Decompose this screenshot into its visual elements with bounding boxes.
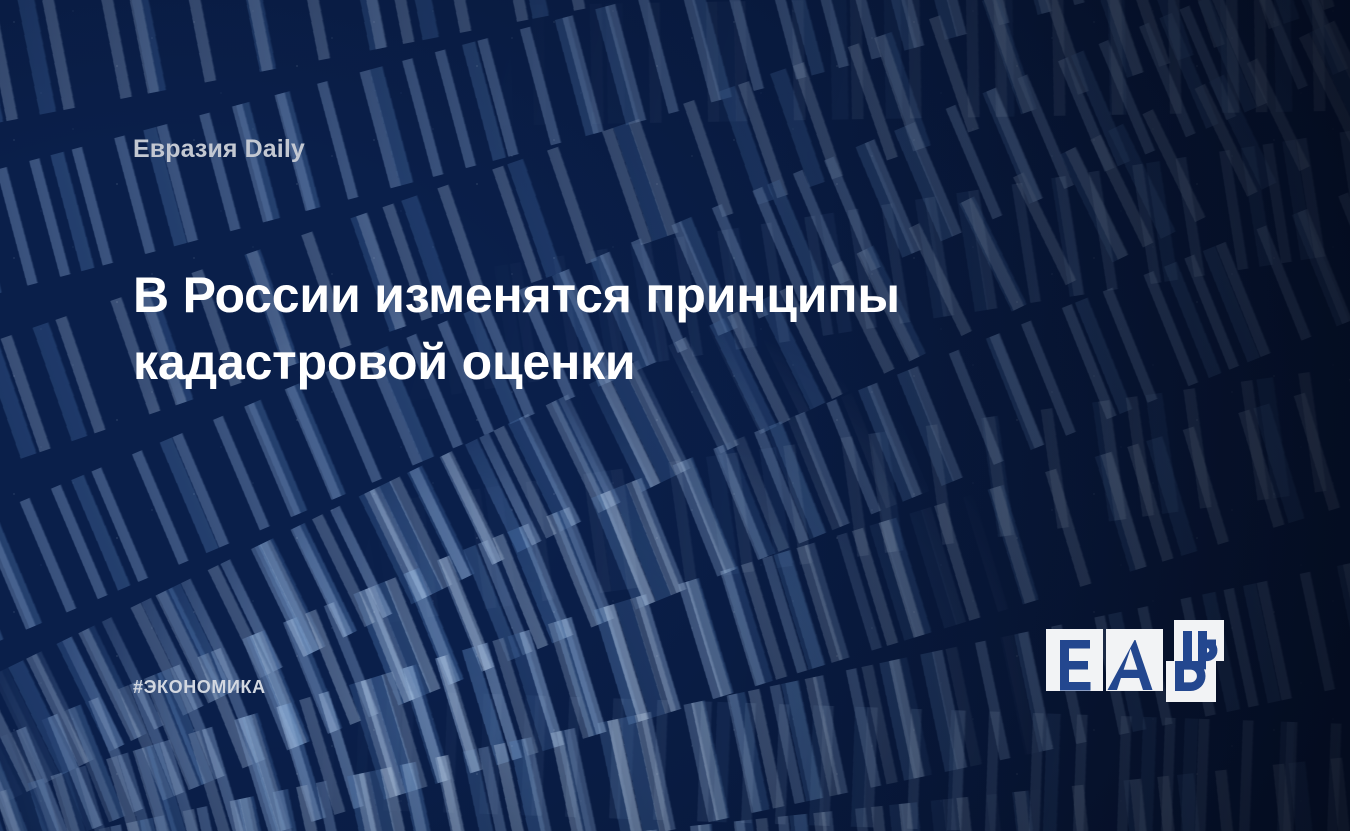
card-content: Евразия Daily В России изменятся принцип… bbox=[0, 0, 1350, 831]
category-hashtag: #ЭКОНОМИКА bbox=[133, 677, 266, 698]
eadaily-logo-icon bbox=[1046, 618, 1224, 704]
eadaily-logo bbox=[1046, 618, 1224, 704]
news-social-card: Евразия Daily В России изменятся принцип… bbox=[0, 0, 1350, 831]
page-title: В России изменятся принципы кадастровой … bbox=[133, 262, 1013, 396]
brand-name: Евразия Daily bbox=[133, 135, 305, 164]
